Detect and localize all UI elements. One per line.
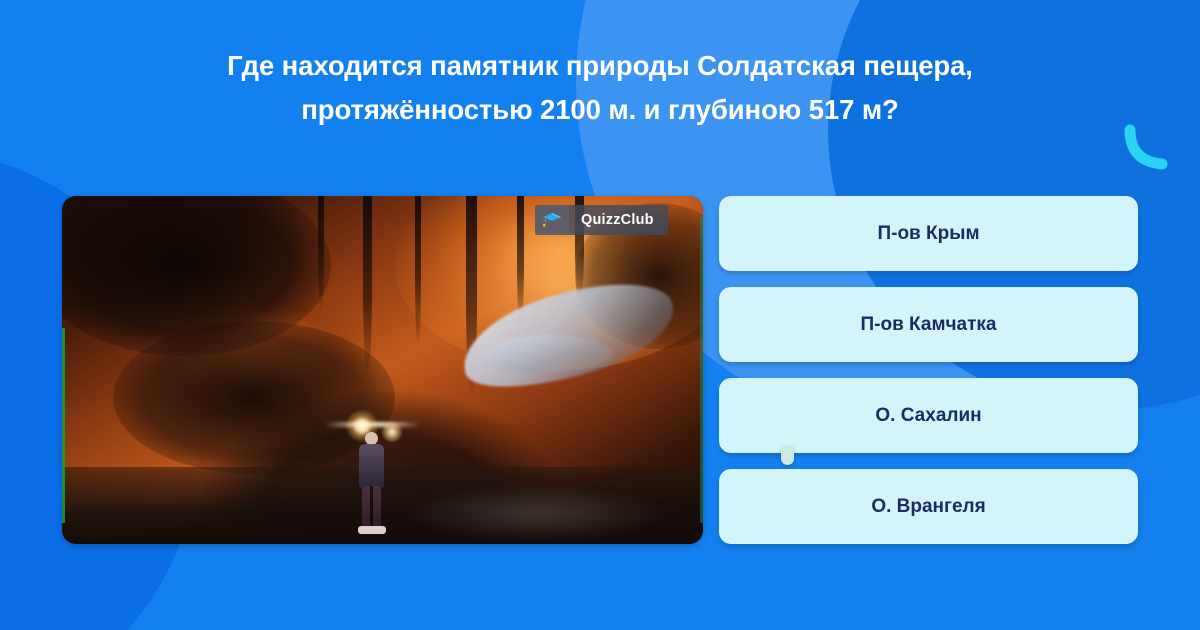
question-text: Где находится памятник природы Солдатска… xyxy=(0,44,1200,132)
stalactite xyxy=(415,196,421,349)
answer-option-1[interactable]: П-ов Крым xyxy=(719,196,1138,271)
photo-edge-fringe-left xyxy=(62,328,65,523)
answer-option-1-label: П-ов Крым xyxy=(877,223,979,245)
answer-option-3[interactable]: О. Сахалин xyxy=(719,378,1138,453)
quizzclub-watermark[interactable]: QuizzClub xyxy=(535,205,668,235)
answer-option-3-tab-nub xyxy=(781,445,794,465)
caver-legs xyxy=(362,486,381,528)
answer-option-2-label: П-ов Камчатка xyxy=(861,314,997,336)
question-line-1: Где находится памятник природы Солдатска… xyxy=(0,44,1200,88)
answer-option-3-label: О. Сахалин xyxy=(875,405,981,427)
cave-photo xyxy=(62,196,703,544)
answer-option-2[interactable]: П-ов Камчатка xyxy=(719,287,1138,362)
caver-figure xyxy=(354,426,390,534)
question-image-card[interactable] xyxy=(62,196,703,544)
caver-head xyxy=(365,432,378,445)
quiz-card: Где находится памятник природы Солдатска… xyxy=(0,0,1200,630)
answer-list: П-ов Крым П-ов Камчатка О. Сахалин О. Вр… xyxy=(719,196,1138,544)
question-line-2: протяжённостью 2100 м. и глубиною 517 м? xyxy=(0,88,1200,132)
photo-edge-fringe-right xyxy=(700,217,703,523)
caver-boots xyxy=(358,526,386,534)
decor-crescent-icon xyxy=(1124,126,1170,172)
graduation-cap-icon xyxy=(535,205,569,235)
caver-body xyxy=(359,444,384,488)
answer-option-4[interactable]: О. Врангеля xyxy=(719,469,1138,544)
quizzclub-watermark-label: QuizzClub xyxy=(569,212,668,228)
answer-option-4-label: О. Врангеля xyxy=(871,496,985,518)
